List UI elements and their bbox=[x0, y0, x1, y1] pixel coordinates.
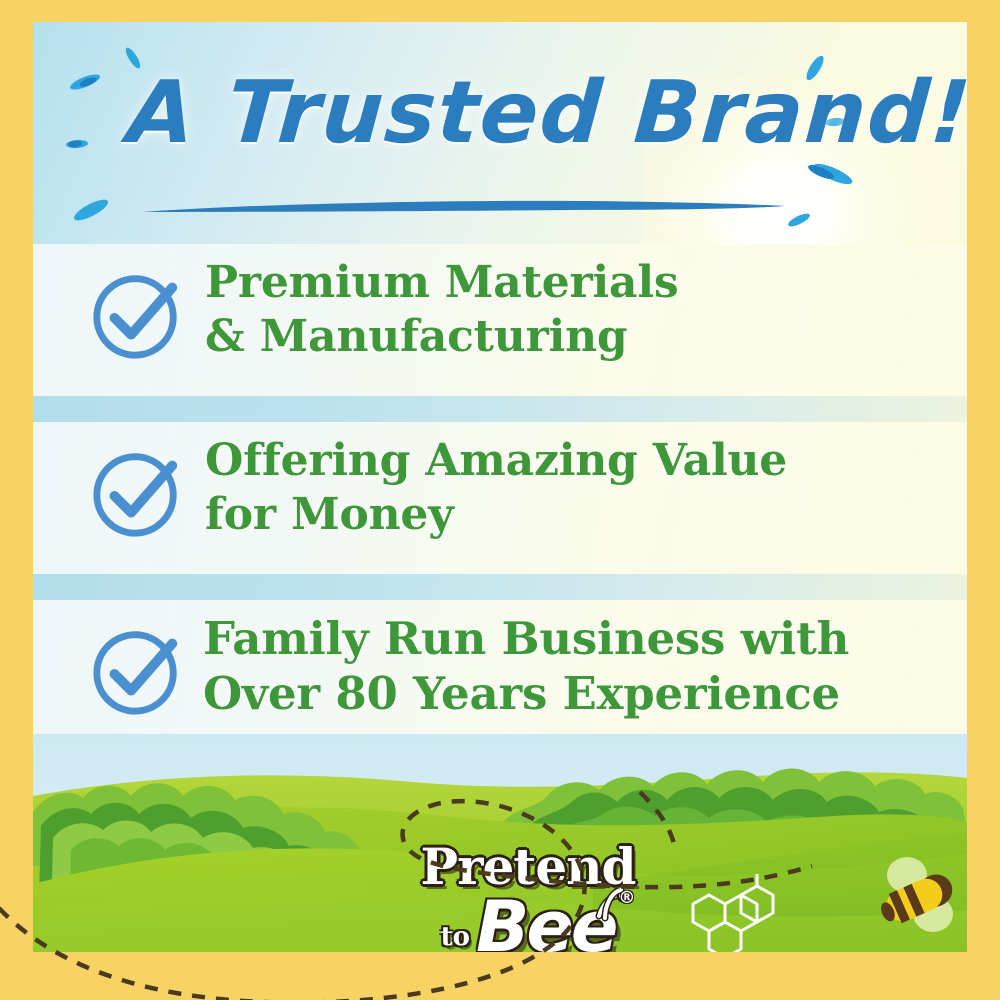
feature-text: Premium Materials & Manufacturing bbox=[205, 256, 945, 363]
feature-text: Family Run Business with Over 80 Years E… bbox=[203, 612, 943, 722]
feature-row-amazing-value: Offering Amazing Value for Money bbox=[33, 422, 967, 574]
brand-logo: Pretend to Bee ® bbox=[403, 842, 653, 952]
feature-row-family-business: Family Run Business with Over 80 Years E… bbox=[33, 600, 967, 752]
feature-line: for Money bbox=[205, 488, 945, 542]
row-separator bbox=[33, 396, 967, 422]
logo-word-pretend: Pretend bbox=[403, 842, 653, 892]
feature-line: Family Run Business with bbox=[203, 612, 943, 667]
feature-list: Premium Materials & Manufacturing Offeri… bbox=[33, 244, 967, 734]
poster-root: A Trusted Brand! Premium Materials & Man… bbox=[0, 0, 1000, 1000]
row-separator bbox=[33, 574, 967, 600]
check-circle-icon bbox=[88, 266, 186, 364]
header-banner: A Trusted Brand! bbox=[33, 22, 967, 252]
feature-line: & Manufacturing bbox=[205, 310, 945, 364]
honeycomb-icon bbox=[673, 874, 785, 952]
feature-line: Offering Amazing Value bbox=[205, 434, 945, 488]
poster-artboard: A Trusted Brand! Premium Materials & Man… bbox=[33, 22, 967, 952]
bee-icon bbox=[871, 854, 967, 940]
check-circle-icon bbox=[88, 444, 186, 542]
check-circle-icon bbox=[88, 622, 186, 720]
feature-row-premium-materials: Premium Materials & Manufacturing bbox=[33, 244, 967, 396]
feature-line: Premium Materials bbox=[205, 256, 945, 310]
feature-line: Over 80 Years Experience bbox=[203, 667, 943, 722]
feature-text: Offering Amazing Value for Money bbox=[205, 434, 945, 541]
headline-underline-icon bbox=[141, 200, 787, 214]
page-title: A Trusted Brand! bbox=[125, 70, 891, 156]
registered-trademark-icon: ® bbox=[618, 890, 635, 906]
logo-line-2: to Bee ® bbox=[403, 894, 653, 952]
logo-word-bee: Bee ® bbox=[476, 894, 615, 952]
logo-word-to: to bbox=[441, 922, 470, 952]
